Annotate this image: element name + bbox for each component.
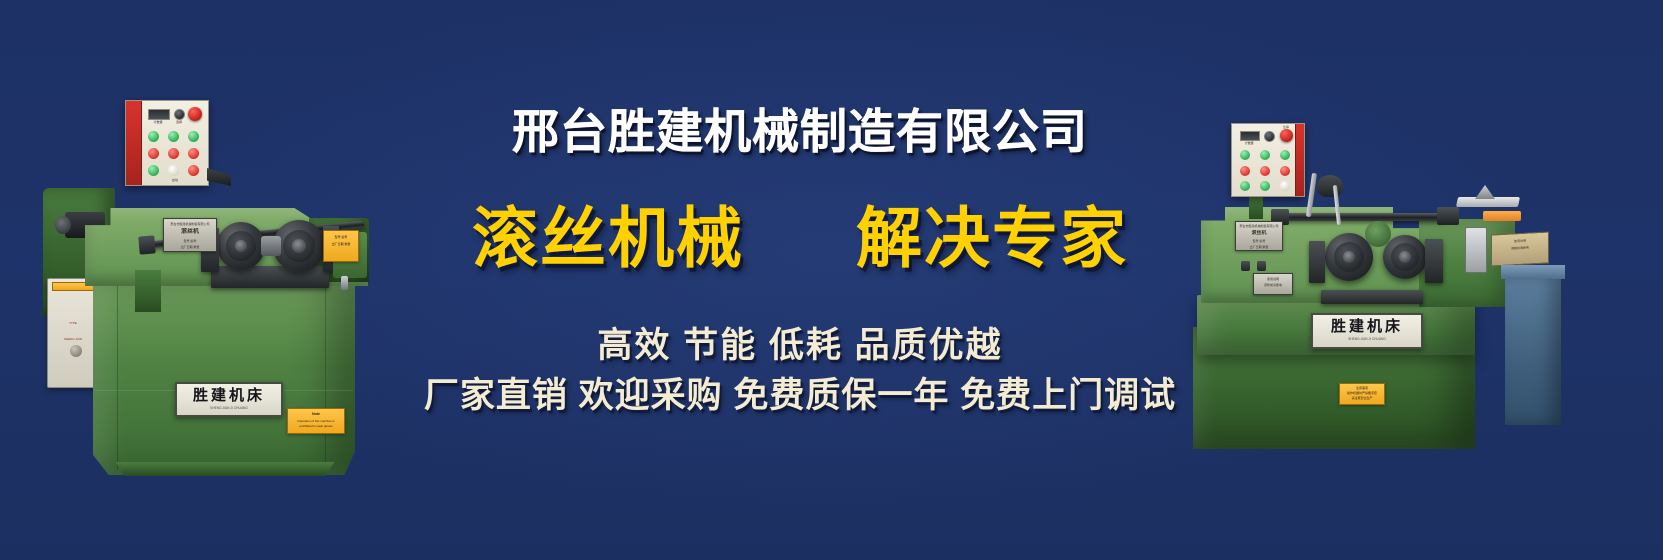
machine-left-cabinet-knob [70, 345, 82, 357]
machine-right-spec-line-4: 出厂日期 重量 [1236, 245, 1282, 249]
tagline-secondary: 厂家直销 欢迎采购 免费质保一年 免费上门调试 [400, 378, 1200, 413]
machine-left-control-panel: 计数器 选择 启动 [125, 100, 209, 186]
machine-left-emergency-stop-button[interactable] [188, 107, 202, 121]
machine-right-coolant-head [1317, 175, 1343, 197]
machine-left-nameplate: 胜建机床 SHENG JIAN JI CHUANG [175, 382, 283, 417]
machine-left-valve [341, 276, 348, 290]
machine-left-lamp-1[interactable] [148, 131, 159, 142]
machine-left-lamp-2[interactable] [168, 131, 179, 142]
machine-right-slide-right [1425, 239, 1443, 283]
machine-left-spec-line-4: 出厂日期 重量 [164, 245, 216, 249]
headline-left: 滚丝机械 [472, 205, 744, 271]
machine-right-spec-plate: 邢台市胜建机械制造有限公司 滚丝机 型号 编号 出厂日期 重量 [1235, 221, 1283, 251]
machine-left-roller-1 [217, 222, 265, 270]
machine-right-lamp-9[interactable] [1280, 181, 1290, 191]
machine-left-body [93, 275, 355, 475]
machine-right-small-plate-line-1: 使用说明 [1254, 277, 1292, 281]
machine-left-lamp-5[interactable] [168, 148, 179, 159]
machine-left-seam-1 [117, 280, 118, 470]
machine-left-display-label: 计数器 [146, 120, 170, 124]
machine-left-tie-bar-mount [138, 235, 156, 254]
machine-right-small-plate-line-2: 调整前请断电 [1254, 283, 1292, 287]
machine-right-nameplate: 胜建机床 SHENG JIAN JI CHUANG [1311, 313, 1423, 349]
machine-left-control-pillar [135, 270, 161, 312]
machine-left-yellow-plate: 型号 编号 出厂日期 重量 [323, 230, 359, 262]
machine-right-spec-line-2: 滚丝机 [1236, 230, 1282, 237]
machine-left-warning-line-2: prohibited to wear gloves [288, 424, 344, 428]
machine-left-lamp-9[interactable] [188, 165, 199, 176]
banner-text-column: 邢台胜建机械制造有限公司 滚丝机械 解决专家 高效 节能 低耗 品质优越 厂家直… [400, 0, 1200, 560]
machine-right-estop-label: 急停 [1276, 125, 1296, 129]
machine-left-rear-flange [55, 216, 71, 234]
machine-left-lamp-3[interactable] [188, 131, 199, 142]
machine-right-nameplate-cn: 胜建机床 [1331, 320, 1403, 335]
machine-right-roller-1-hub [1343, 251, 1355, 263]
machine-left-slide-base [211, 266, 329, 288]
machine-right-lamp-1[interactable] [1240, 150, 1250, 160]
machine-right-linear-guide [1465, 227, 1487, 273]
machine-left-roller-2-hub [292, 239, 306, 253]
machine-right-slide-base [1321, 290, 1423, 304]
machine-left-counter-display[interactable] [148, 109, 170, 120]
tagline-primary: 高效 节能 低耗 品质优越 [400, 328, 1200, 363]
machine-left-lamp-7[interactable] [148, 165, 159, 176]
machine-left-seam-2 [325, 280, 326, 470]
machine-right-spec-line-3: 型号 编号 [1236, 239, 1282, 243]
machine-right-counter-display[interactable] [1240, 131, 1260, 141]
machine-right-lamp-4[interactable] [1240, 166, 1250, 176]
machine-right-tie-bar-mount-right [1437, 207, 1459, 225]
machine-right-tail-section [1505, 275, 1561, 425]
machine-left-side-cabinet: TYPE SHENG JIAN [47, 278, 99, 388]
machine-left-warning-sticker: Note Operation of this machine is prohib… [287, 408, 345, 434]
machine-right-lamp-3[interactable] [1280, 150, 1290, 160]
machine-right-roller-2-hub [1399, 251, 1411, 263]
machine-left-yellow-plate-text: 型号 编号 [324, 235, 358, 239]
machine-right-spec-line-1: 邢台市胜建机械制造有限公司 [1236, 224, 1282, 228]
machine-right-tool-fixture [1475, 185, 1495, 199]
machine-right-slide-left [1309, 241, 1325, 283]
machine-left-spec-line-1: 邢台市胜建机械制造有限公司 [164, 222, 216, 226]
headline-right: 解决专家 [856, 205, 1128, 271]
machine-right-selector-knob[interactable] [1264, 131, 1275, 142]
machine-left-lamp-4[interactable] [148, 148, 159, 159]
machine-right-lamp-2[interactable] [1260, 150, 1270, 160]
machine-right-display-label: 计数器 [1238, 141, 1260, 145]
machine-right-warning-line-2: 操作机器时严禁戴手套 [1340, 391, 1384, 395]
machine-left-roller-1-hub [235, 240, 247, 252]
machine-right-tie-bar [1277, 213, 1445, 221]
machine-left-lamp-6[interactable] [188, 148, 199, 159]
machine-right-lamp-5[interactable] [1260, 166, 1270, 176]
machine-left-spec-line-3: 型号 编号 [164, 239, 216, 243]
machine-right-control-panel: 计数器 急停 [1231, 123, 1305, 197]
machine-right-orange-block [1483, 211, 1521, 221]
machine-left-center-spindle [261, 236, 281, 256]
machine-right-warning-sticker: 注意事项 操作机器时严禁戴手套 请注意安全生产 [1339, 383, 1385, 405]
machine-left-lamp-8[interactable] [168, 165, 179, 176]
machine-right-small-plate: 使用说明 调整前请断电 [1253, 273, 1293, 295]
machine-right-brass-plate: 使用说明 调整前请断电 [1491, 231, 1549, 266]
machine-left-panel-bottom-label: 启动 [144, 178, 206, 182]
machine-right-lamp-7[interactable] [1240, 181, 1250, 191]
machine-left-panel-bracket [207, 168, 231, 186]
promotional-banner: TYPE SHENG JIAN [0, 0, 1663, 560]
machine-left-knob-label: 选择 [170, 120, 188, 124]
machine-right-brass-line-2: 调整前请断电 [1492, 245, 1548, 252]
machine-left-cabinet-label-1: TYPE [48, 321, 98, 325]
thread-rolling-machine-right-image: 使用说明 调整前请断电 邢台市胜建机械制造有限公司 滚丝机 型号 编号 出厂日期… [1175, 115, 1565, 460]
machine-right-center-wheel [1365, 221, 1391, 247]
machine-right-lamp-8[interactable] [1260, 181, 1270, 191]
headline-row: 滚丝机械 解决专家 [400, 205, 1200, 271]
company-name-heading: 邢台胜建机械制造有限公司 [400, 108, 1200, 155]
machine-left-nameplate-cn: 胜建机床 [193, 389, 265, 404]
machine-left-yellow-plate-text-2: 出厂日期 重量 [324, 242, 358, 246]
machine-left-selector-knob[interactable] [174, 109, 185, 120]
machine-left-spec-plate: 邢台市胜建机械制造有限公司 滚丝机 型号 编号 出厂日期 重量 [163, 218, 217, 252]
machine-left-warning-line-1: Operation of this machine is [288, 419, 344, 423]
machine-right-warning-line-1: 注意事项 [1340, 386, 1384, 390]
machine-right-roller-2 [1383, 235, 1427, 279]
machine-right-warning-line-3: 请注意安全生产 [1340, 396, 1384, 400]
machine-left-warning-title: Note [288, 412, 344, 417]
thread-rolling-machine-left-image: TYPE SHENG JIAN [25, 90, 420, 480]
machine-right-lamp-6[interactable] [1280, 166, 1290, 176]
machine-right-emergency-stop-button[interactable] [1280, 129, 1293, 142]
machine-left-nameplate-pinyin: SHENG JIAN JI CHUANG [210, 407, 248, 411]
machine-right-panel-red-side [1295, 124, 1304, 196]
machine-left-base-foot [111, 462, 339, 476]
machine-right-toggle-1[interactable] [1241, 261, 1250, 271]
machine-right-tail-top [1501, 265, 1565, 279]
machine-left-cabinet-label-2: SHENG JIAN [48, 337, 98, 341]
machine-right-toggle-2[interactable] [1257, 261, 1266, 271]
machine-right-nameplate-pinyin: SHENG JIAN JI CHUANG [1348, 338, 1386, 342]
machine-left-panel-red-side [126, 101, 142, 185]
machine-left-spec-line-2: 滚丝机 [164, 228, 216, 236]
machine-right-brass-line-1: 使用说明 [1492, 238, 1548, 245]
